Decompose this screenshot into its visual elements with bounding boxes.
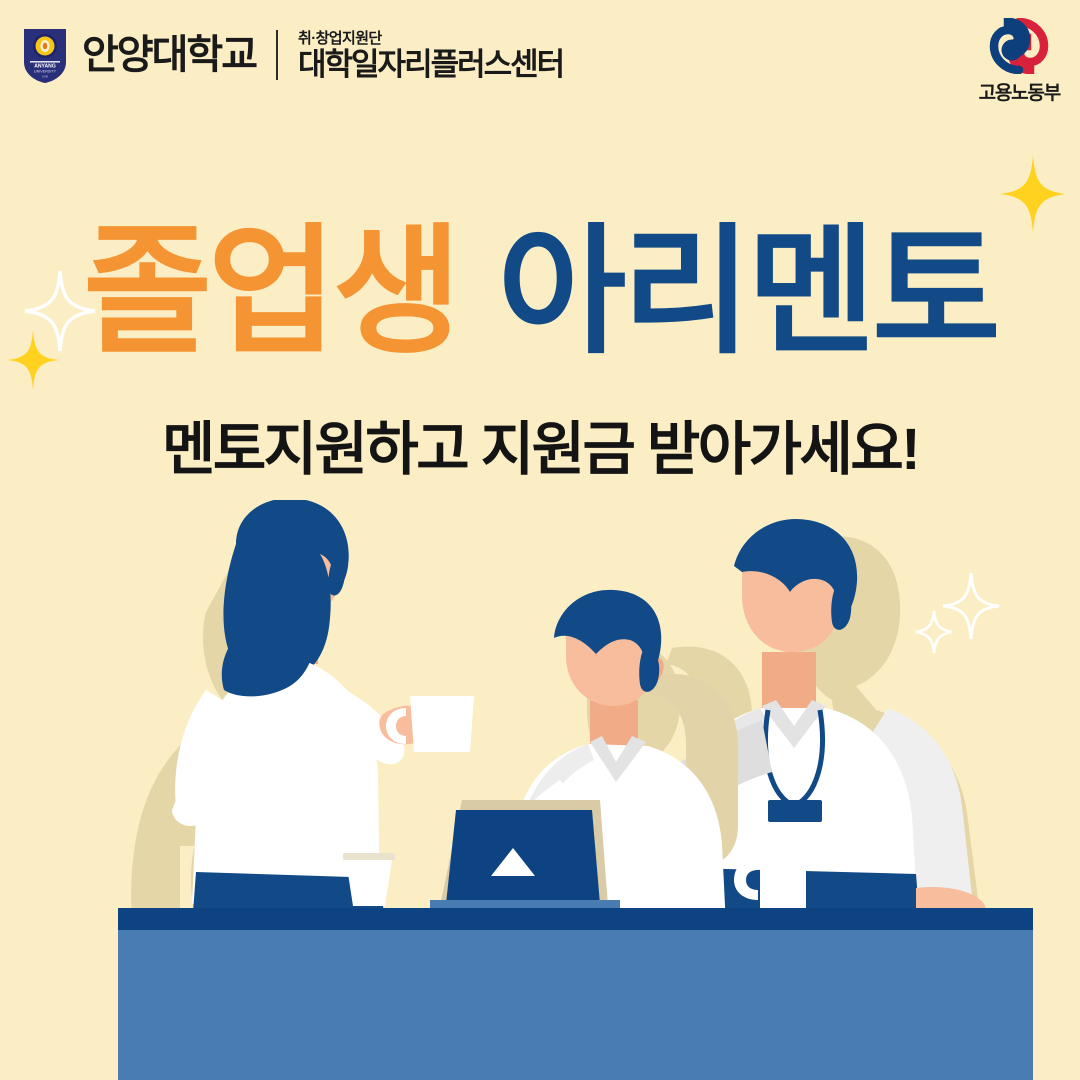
logo-divider [276, 30, 278, 80]
desk [118, 908, 1033, 1080]
center-name-group: 취·창업지원단 대학일자리플러스센터 [298, 31, 563, 80]
hero-title-row: 졸업생아리멘토 [0, 222, 1080, 362]
hero-title-main: 아리멘토 [498, 222, 997, 362]
laptop [430, 800, 620, 914]
university-name: 안양대학교 [82, 35, 256, 75]
hero-subtitle: 멘토지원하고 지원금 받아가세요! [0, 414, 1080, 487]
sparkle-top-right-icon [1000, 155, 1066, 233]
office-illustration [0, 500, 1080, 1080]
hero-title-accent: 졸업생 [83, 222, 457, 362]
center-name-label: 대학일자리플러스센터 [298, 49, 563, 80]
ministry-name-label: 고용노동부 [979, 78, 1060, 105]
svg-text:1948: 1948 [42, 75, 48, 79]
sparkle-left-solid-icon [7, 330, 59, 390]
office-illustration-svg [0, 500, 1080, 1080]
svg-text:UNIVERSITY: UNIVERSITY [34, 70, 57, 74]
header-bar: ANYANG UNIVERSITY 1948 안양대학교 취·창업지원단 대학일… [0, 0, 1080, 120]
center-department-label: 취·창업지원단 [298, 31, 563, 46]
government-logo-group: 고용노동부 [979, 18, 1060, 105]
university-logo-group: ANYANG UNIVERSITY 1948 안양대학교 취·창업지원단 대학일… [22, 26, 563, 84]
anyang-university-shield-emblem-icon: ANYANG UNIVERSITY 1948 [22, 26, 68, 84]
poster-canvas: ANYANG UNIVERSITY 1948 안양대학교 취·창업지원단 대학일… [0, 0, 1080, 1080]
korea-government-taegeuk-icon [988, 18, 1050, 74]
